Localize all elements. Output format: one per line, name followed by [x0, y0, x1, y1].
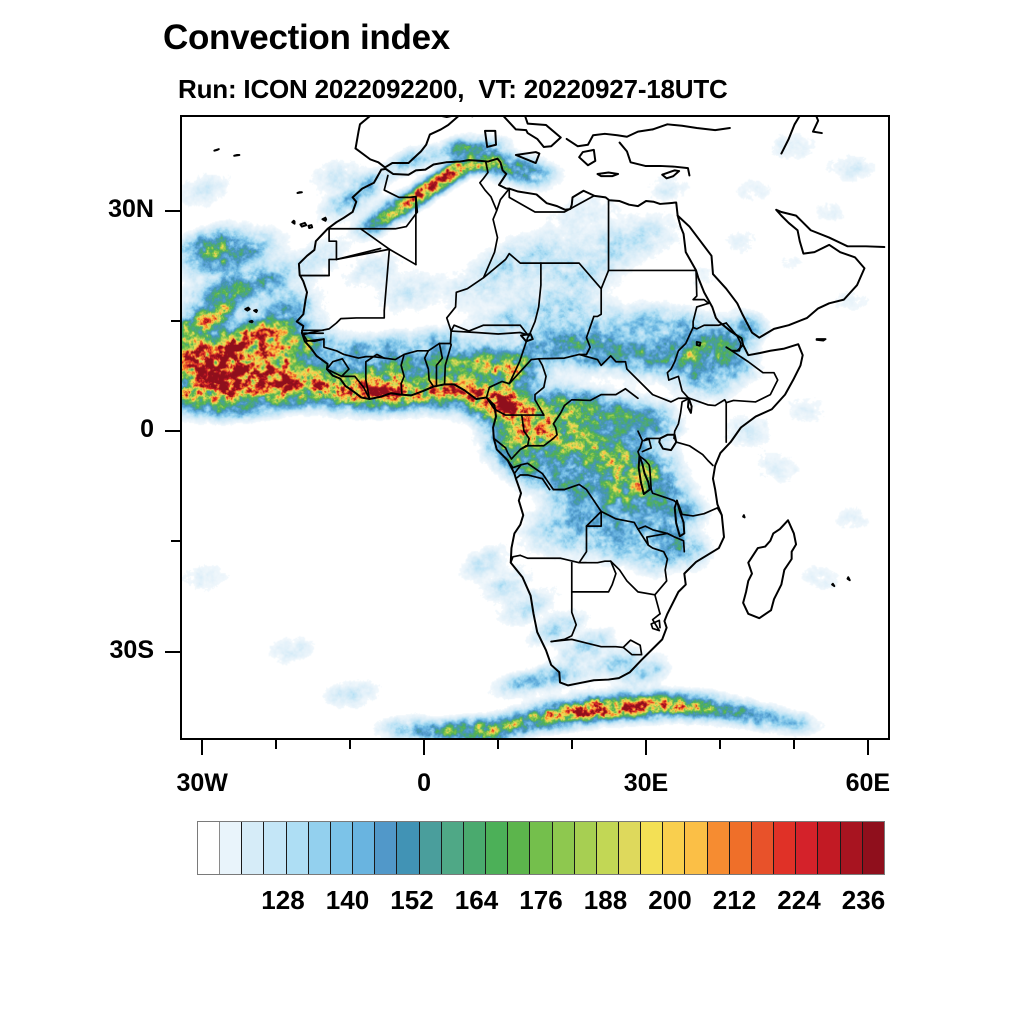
colorbar-cell	[264, 822, 286, 874]
colorbar-cell	[841, 822, 863, 874]
colorbar-cell	[486, 822, 508, 874]
colorbar-cell	[309, 822, 331, 874]
y-axis-tick	[165, 651, 180, 653]
colorbar-cell	[553, 822, 575, 874]
colorbar-cell	[774, 822, 796, 874]
x-axis-label: 60E	[808, 769, 928, 798]
x-axis-tick	[719, 740, 721, 749]
x-axis-tick	[201, 740, 203, 755]
x-axis-tick	[645, 740, 647, 755]
colorbar-cell	[287, 822, 309, 874]
colorbar-cell	[863, 822, 884, 874]
y-axis-tick	[171, 540, 180, 542]
x-axis-label: 30E	[586, 769, 706, 798]
colorbar	[197, 821, 885, 875]
colorbar-cell	[220, 822, 242, 874]
colorbar-cell	[575, 822, 597, 874]
colorbar-cell	[508, 822, 530, 874]
colorbar-cell	[708, 822, 730, 874]
colorbar-cell	[242, 822, 264, 874]
x-axis-tick	[497, 740, 499, 749]
colorbar-cell	[730, 822, 752, 874]
colorbar-cell	[796, 822, 818, 874]
y-axis-label: 30S	[110, 636, 154, 665]
y-axis-label: 0	[140, 415, 154, 444]
colorbar-cell	[464, 822, 486, 874]
colorbar-cell	[818, 822, 840, 874]
colorbar-tick-label: 236	[824, 885, 904, 916]
x-axis-tick	[423, 740, 425, 755]
x-axis-label: 0	[364, 769, 484, 798]
x-axis-tick	[349, 740, 351, 749]
coastlines-and-borders-overlay	[182, 117, 888, 738]
colorbar-cell	[619, 822, 641, 874]
colorbar-cell	[641, 822, 663, 874]
colorbar-cell	[530, 822, 552, 874]
colorbar-cell	[331, 822, 353, 874]
colorbar-cell	[685, 822, 707, 874]
x-axis-label: 30W	[142, 769, 262, 798]
colorbar-cell	[375, 822, 397, 874]
x-axis-tick	[275, 740, 277, 749]
colorbar-cell	[420, 822, 442, 874]
y-axis-tick	[171, 320, 180, 322]
figure-subtitle: Run: ICON 2022092200, VT: 20220927-18UTC	[178, 74, 728, 105]
colorbar-cell	[597, 822, 619, 874]
colorbar-cell	[353, 822, 375, 874]
colorbar-cell	[663, 822, 685, 874]
convection-index-figure: Convection index Run: ICON 2022092200, V…	[0, 0, 1024, 1024]
y-axis-tick	[165, 210, 180, 212]
map-plot-area	[180, 115, 890, 740]
colorbar-cell	[198, 822, 220, 874]
y-axis-label: 30N	[108, 195, 154, 224]
y-axis-tick	[165, 430, 180, 432]
colorbar-cell	[442, 822, 464, 874]
page-title: Convection index	[163, 18, 450, 58]
x-axis-tick	[571, 740, 573, 749]
colorbar-cell	[397, 822, 419, 874]
x-axis-tick	[867, 740, 869, 755]
colorbar-cell	[752, 822, 774, 874]
x-axis-tick	[793, 740, 795, 749]
